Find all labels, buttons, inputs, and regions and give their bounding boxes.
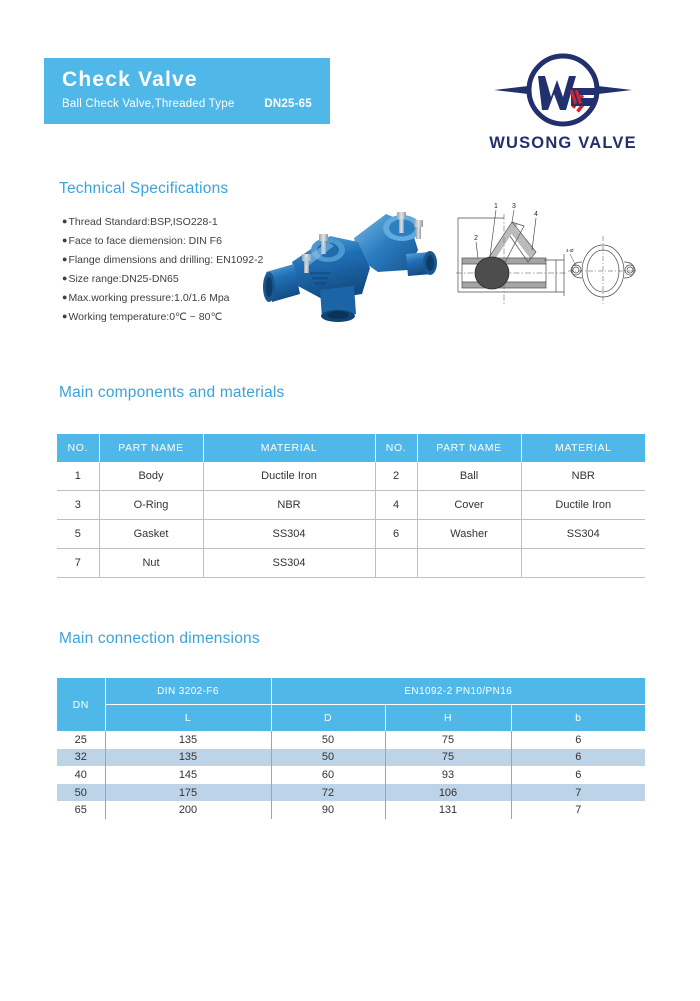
spec-text: Max.working pressure:1.0/1.6 Mpa: [68, 292, 229, 304]
valve-section-drawing: 1 3 4 2: [452, 196, 570, 320]
spec-text: Working temperature:0℃ ~ 80℃: [68, 311, 222, 323]
cell-d: 50: [271, 731, 385, 749]
table-row: 25 135 50 75 6: [57, 731, 645, 749]
cell-no: 5: [57, 520, 99, 549]
cell-l: 200: [105, 801, 271, 819]
table-group-header-row: DN DIN 3202-F6 EN1092-2 PN10/PN16: [57, 678, 645, 705]
cell-material: SS304: [521, 520, 645, 549]
cell-material: [521, 549, 645, 578]
cell-no: 7: [57, 549, 99, 578]
cell-part-name: Ball: [417, 462, 521, 491]
table-row: 7 Nut SS304: [57, 549, 645, 578]
drawing-callout-3: 3: [512, 203, 516, 210]
header-subtitle: Ball Check Valve,Threaded Type: [62, 98, 234, 110]
table-row: 65 200 90 131 7: [57, 801, 645, 819]
table-sub-header-row: L D H b: [57, 705, 645, 732]
cell-h: 75: [385, 749, 511, 767]
cell-material: Ductile Iron: [203, 462, 375, 491]
spec-text: Face to face diemension: DIN F6: [68, 235, 222, 247]
section-drawing: 1 3 4 2: [452, 196, 570, 320]
bullet-icon: ●: [62, 292, 67, 302]
cell-h: 106: [385, 784, 511, 802]
cell-b: 7: [511, 801, 645, 819]
company-name: WUSONG VALVE: [468, 134, 658, 153]
table-row: 5 Gasket SS304 6 Washer SS304: [57, 520, 645, 549]
header-subtitle-row: Ball Check Valve,Threaded Type DN25-65: [62, 98, 330, 110]
column-header-material-right: MATERIAL: [521, 434, 645, 462]
bullet-icon: ●: [62, 254, 67, 264]
cell-part-name: Cover: [417, 491, 521, 520]
cell-l: 145: [105, 766, 271, 784]
bullet-icon: ●: [62, 235, 67, 245]
cell-b: 6: [511, 749, 645, 767]
header-size-code: DN25-65: [264, 98, 311, 110]
cell-material: Ductile Iron: [521, 491, 645, 520]
table-header-row: NO. PART NAME MATERIAL NO. PART NAME MAT…: [57, 434, 645, 462]
column-header-l: L: [105, 705, 271, 732]
spec-text: Flange dimensions and drilling: EN1092-2: [68, 254, 263, 266]
bullet-icon: ●: [62, 216, 67, 226]
cell-no: 3: [57, 491, 99, 520]
dimensions-table: DN DIN 3202-F6 EN1092-2 PN10/PN16 L D H …: [57, 678, 645, 819]
table-row: 50 175 72 106 7: [57, 784, 645, 802]
section-heading-dimensions: Main connection dimensions: [59, 630, 260, 648]
cell-b: 6: [511, 766, 645, 784]
cell-part-name: [417, 549, 521, 578]
cell-d: 90: [271, 801, 385, 819]
cell-part-name: Washer: [417, 520, 521, 549]
logo-mark: [468, 50, 658, 132]
cell-h: 93: [385, 766, 511, 784]
column-header-part-name-left: PART NAME: [99, 434, 203, 462]
cell-d: 50: [271, 749, 385, 767]
company-logo: WUSONG VALVE: [468, 50, 658, 162]
column-header-d: D: [271, 705, 385, 732]
cell-material: SS304: [203, 549, 375, 578]
product-photo: [258, 198, 438, 328]
cell-b: 7: [511, 784, 645, 802]
cell-h: 131: [385, 801, 511, 819]
column-header-part-name-right: PART NAME: [417, 434, 521, 462]
cell-material: NBR: [521, 462, 645, 491]
cell-part-name: Nut: [99, 549, 203, 578]
cell-d: 60: [271, 766, 385, 784]
column-header-dn: DN: [57, 678, 105, 731]
spec-text: Thread Standard:BSP,ISO228-1: [68, 216, 217, 228]
cell-no: 2: [375, 462, 417, 491]
bullet-icon: ●: [62, 273, 67, 283]
column-header-material-left: MATERIAL: [203, 434, 375, 462]
spec-text: Size range:DN25-DN65: [68, 273, 178, 285]
cell-h: 75: [385, 731, 511, 749]
group-header-en: EN1092-2 PN10/PN16: [271, 678, 645, 705]
cell-dn: 25: [57, 731, 105, 749]
cell-l: 135: [105, 731, 271, 749]
components-table: NO. PART NAME MATERIAL NO. PART NAME MAT…: [57, 434, 645, 578]
logo-icon: [468, 50, 658, 132]
end-view-note: 4-Ø: [566, 248, 574, 253]
bullet-icon: ●: [62, 311, 67, 321]
valve-photo-illustration: [258, 198, 438, 328]
group-header-din: DIN 3202-F6: [105, 678, 271, 705]
column-header-b: b: [511, 705, 645, 732]
cell-no: 1: [57, 462, 99, 491]
cell-dn: 40: [57, 766, 105, 784]
cell-dn: 65: [57, 801, 105, 819]
cell-part-name: O-Ring: [99, 491, 203, 520]
cell-part-name: Body: [99, 462, 203, 491]
table-row: 1 Body Ductile Iron 2 Ball NBR: [57, 462, 645, 491]
end-view-drawing: 4-Ø: [566, 232, 640, 310]
drawing-callout-1: 1: [494, 203, 498, 210]
page-title: Check Valve: [62, 68, 330, 92]
cell-l: 175: [105, 784, 271, 802]
section-heading-technical: Technical Specifications: [59, 180, 228, 198]
column-header-no-left: NO.: [57, 434, 99, 462]
cell-no: 4: [375, 491, 417, 520]
cell-material: NBR: [203, 491, 375, 520]
table-row: 32 135 50 75 6: [57, 749, 645, 767]
cell-part-name: Gasket: [99, 520, 203, 549]
cell-no: [375, 549, 417, 578]
cell-d: 72: [271, 784, 385, 802]
cell-material: SS304: [203, 520, 375, 549]
cell-dn: 32: [57, 749, 105, 767]
table-row: 40 145 60 93 6: [57, 766, 645, 784]
cell-dn: 50: [57, 784, 105, 802]
cell-b: 6: [511, 731, 645, 749]
column-header-no-right: NO.: [375, 434, 417, 462]
table-row: 3 O-Ring NBR 4 Cover Ductile Iron: [57, 491, 645, 520]
cell-l: 135: [105, 749, 271, 767]
drawing-callout-2: 2: [474, 235, 478, 242]
drawing-callout-4: 4: [534, 211, 538, 218]
column-header-h: H: [385, 705, 511, 732]
header-banner: Check Valve Ball Check Valve,Threaded Ty…: [44, 58, 330, 124]
section-heading-components: Main components and materials: [59, 384, 285, 402]
flange-end-view: 4-Ø: [566, 232, 640, 310]
cell-no: 6: [375, 520, 417, 549]
